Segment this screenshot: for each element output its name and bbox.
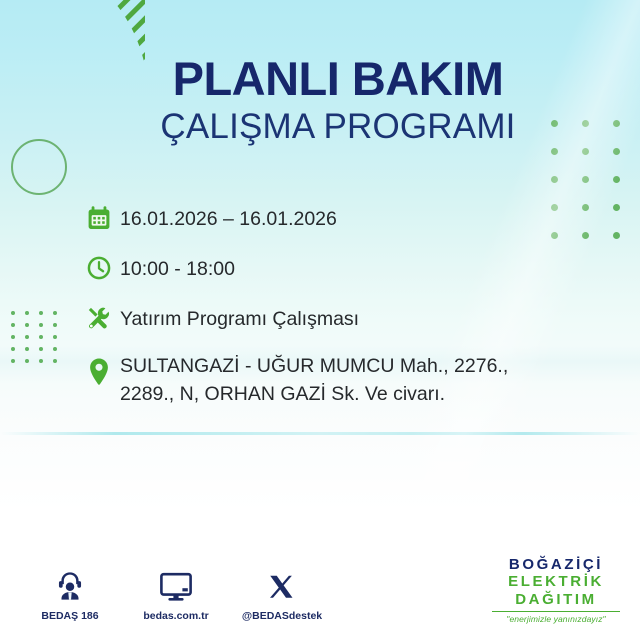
- brand-line-bogazici: BOĞAZİÇİ: [488, 556, 624, 573]
- bedas-brand-logo: BOĞAZİÇİ ELEKTRİK DAĞITIM "enerjimizle y…: [488, 556, 624, 624]
- work-type-text: Yatırım Programı Çalışması: [120, 300, 359, 334]
- contact-call-center[interactable]: BEDAŞ 186: [30, 567, 110, 622]
- clock-icon: [86, 250, 120, 286]
- brand-divider: [492, 611, 620, 612]
- time-range-text: 10:00 - 18:00: [120, 250, 235, 284]
- x-twitter-icon: [267, 567, 297, 603]
- wave-divider-decoration: [0, 432, 640, 435]
- planned-maintenance-poster: PLANLI BAKIM ÇALIŞMA PROGRAMI: [0, 0, 640, 640]
- date-range-text: 16.01.2026 – 16.01.2026: [120, 200, 337, 234]
- monitor-website-icon: [159, 567, 193, 603]
- poster-heading: PLANLI BAKIM ÇALIŞMA PROGRAMI: [128, 55, 548, 145]
- contact-social-x[interactable]: @BEDASdestek: [242, 567, 322, 622]
- brand-line-dagitim: DAĞITIM: [488, 591, 624, 608]
- contact-label-social-x: @BEDASdestek: [242, 610, 322, 622]
- detail-row-time: 10:00 - 18:00: [86, 250, 566, 286]
- brand-line-elektrik: ELEKTRİK: [488, 573, 624, 590]
- location-text: SULTANGAZİ - UĞUR MUMCU Mah., 2276., 228…: [120, 350, 566, 408]
- contact-label-website: bedas.com.tr: [143, 610, 208, 622]
- diagonal-stripes-decoration: [0, 0, 145, 118]
- brand-tagline: "enerjimizle yanınızdayız": [488, 614, 624, 624]
- headset-support-icon: [53, 567, 87, 603]
- page-title: PLANLI BAKIM: [128, 55, 548, 104]
- calendar-icon: [86, 200, 120, 236]
- detail-row-work-type: Yatırım Programı Çalışması: [86, 300, 566, 336]
- location-pin-icon: [86, 350, 120, 390]
- contact-label-call-center: BEDAŞ 186: [41, 610, 98, 622]
- page-subtitle: ÇALIŞMA PROGRAMI: [128, 108, 548, 145]
- tools-icon: [86, 300, 120, 336]
- detail-row-location: SULTANGAZİ - UĞUR MUMCU Mah., 2276., 228…: [86, 350, 566, 408]
- contact-website[interactable]: bedas.com.tr: [136, 567, 216, 622]
- dot-grid-left-decoration: [11, 311, 65, 363]
- maintenance-details-list: 16.01.2026 – 16.01.2026 10:00 - 18:00: [86, 200, 566, 422]
- circle-outline-decoration: [11, 139, 67, 195]
- detail-row-date: 16.01.2026 – 16.01.2026: [86, 200, 566, 236]
- footer-contacts: BEDAŞ 186 bedas.com.tr @BEDASdestek: [30, 567, 322, 622]
